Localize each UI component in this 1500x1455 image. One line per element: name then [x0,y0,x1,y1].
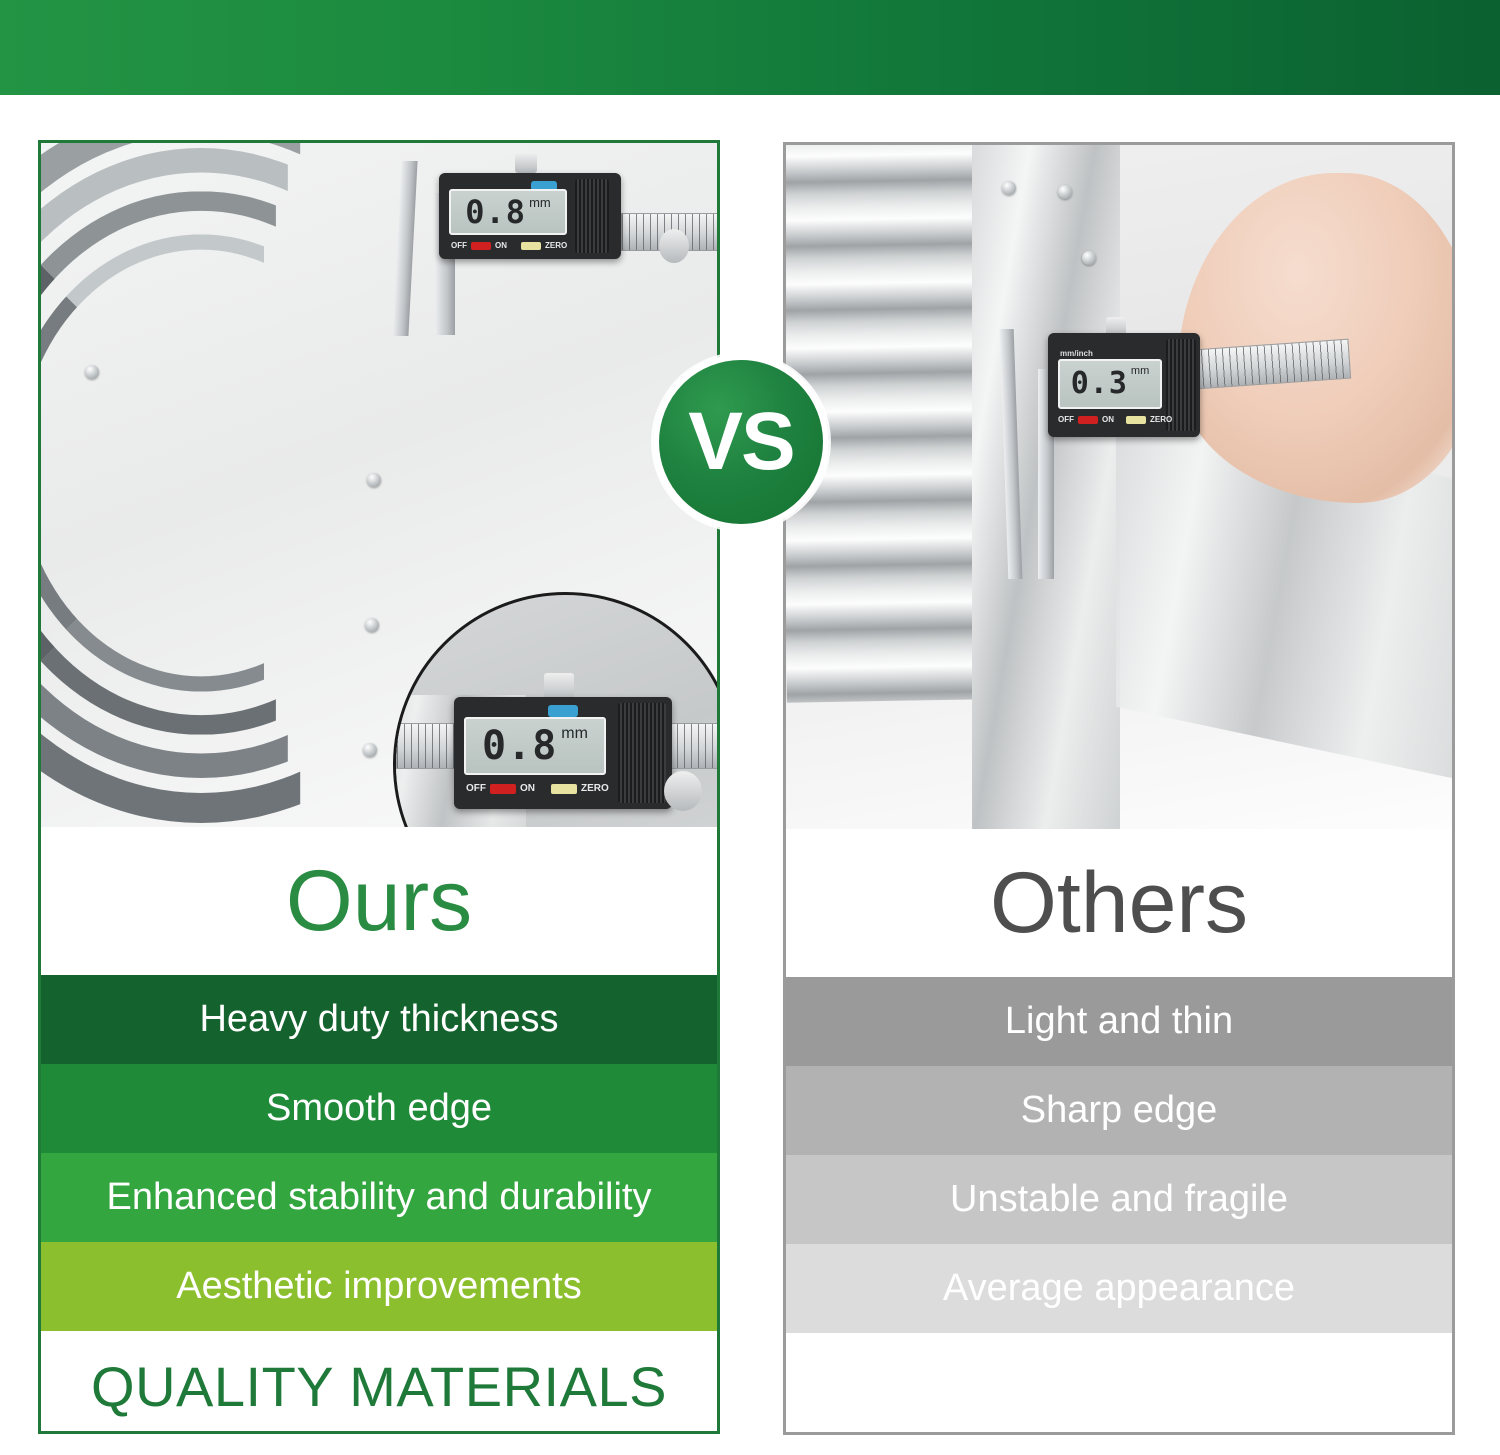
inset-caliper-unit-ours: mm [561,725,588,743]
product-photo-others: 0.3 mm mm/inch OFF ON ZERO mm/inch [786,145,1452,829]
bolt-icon [1082,251,1096,265]
card-footer-ours: QUALITY MATERIALS [41,1331,717,1434]
caliper-off-label: OFF [1058,415,1074,424]
inset-caliper-zero-label: ZERO [581,783,609,794]
caliper-zero-switch [1126,416,1146,424]
feature-label: Sharp edge [1021,1089,1218,1132]
feature-band-ours-3: Enhanced stability and durability [41,1153,717,1242]
product-photo-ours: 0.8 mm OFF ON ZERO [41,143,717,827]
heading-text-others: Others [990,860,1248,946]
card-heading-others: Others [786,829,1452,977]
caliper-unit-others: mm [1131,365,1149,377]
bolt-icon [1058,185,1072,199]
feature-band-ours-1: Heavy duty thickness [41,975,717,1064]
bolt-icon [365,618,379,632]
caliper-zero-label: ZERO [1150,415,1172,424]
inset-caliper-reading-ours: 0.8 [482,726,557,766]
bolt-icon [1002,181,1016,195]
caliper-on-label: ON [1102,415,1114,424]
bolt-icon [363,743,377,757]
comparison-card-ours: 0.8 mm OFF ON ZERO [38,140,720,1434]
feature-label: Average appearance [943,1267,1295,1310]
feature-band-ours-4: Aesthetic improvements [41,1242,717,1331]
quality-materials-text: QUALITY MATERIALS [91,1354,667,1419]
feature-label: Smooth edge [266,1087,492,1130]
feature-band-others-4: Average appearance [786,1244,1452,1333]
vs-label: VS [688,401,793,483]
feature-label: Aesthetic improvements [176,1265,582,1308]
caliper-reading-others: 0.3 [1071,369,1128,399]
caliper-off-label: OFF [451,241,467,250]
caliper-reading-ours: 0.8 [465,196,526,228]
feature-band-others-3: Unstable and fragile [786,1155,1452,1244]
comparison-card-others: 0.3 mm mm/inch OFF ON ZERO mm/inch [783,142,1455,1435]
digital-caliper-others: 0.3 mm mm/inch OFF ON ZERO [1000,323,1400,583]
caliper-unit-ours: mm [529,195,551,210]
vs-badge: VS [653,354,829,530]
feature-band-others-1: Light and thin [786,977,1452,1066]
caliper-zero-label: ZERO [545,241,567,250]
feature-label: Unstable and fragile [950,1178,1288,1221]
caliper-power-switch [471,242,491,250]
caliper-zero-switch [521,242,541,250]
card-footer-others [786,1333,1452,1435]
bolt-icon [85,365,99,379]
digital-caliper-ours: 0.8 mm OFF ON ZERO [389,157,717,337]
feature-band-others-2: Sharp edge [786,1066,1452,1155]
inset-caliper-power-switch [490,784,516,794]
caliper-mode-label-others: mm/inch [1060,349,1093,358]
caliper-on-label: ON [495,241,507,250]
inset-caliper-on-label: ON [520,783,535,794]
feature-label: Enhanced stability and durability [106,1176,651,1219]
card-heading-ours: Ours [41,827,717,975]
heading-text-ours: Ours [286,858,472,944]
top-green-banner [0,0,1500,95]
feature-label: Light and thin [1005,1000,1233,1043]
inset-caliper-off-label: OFF [466,783,486,794]
feature-band-ours-2: Smooth edge [41,1064,717,1153]
caliper-power-switch [1078,416,1098,424]
feature-label: Heavy duty thickness [199,998,558,1041]
inset-caliper-zero-switch [551,784,577,794]
bolt-icon [367,473,381,487]
